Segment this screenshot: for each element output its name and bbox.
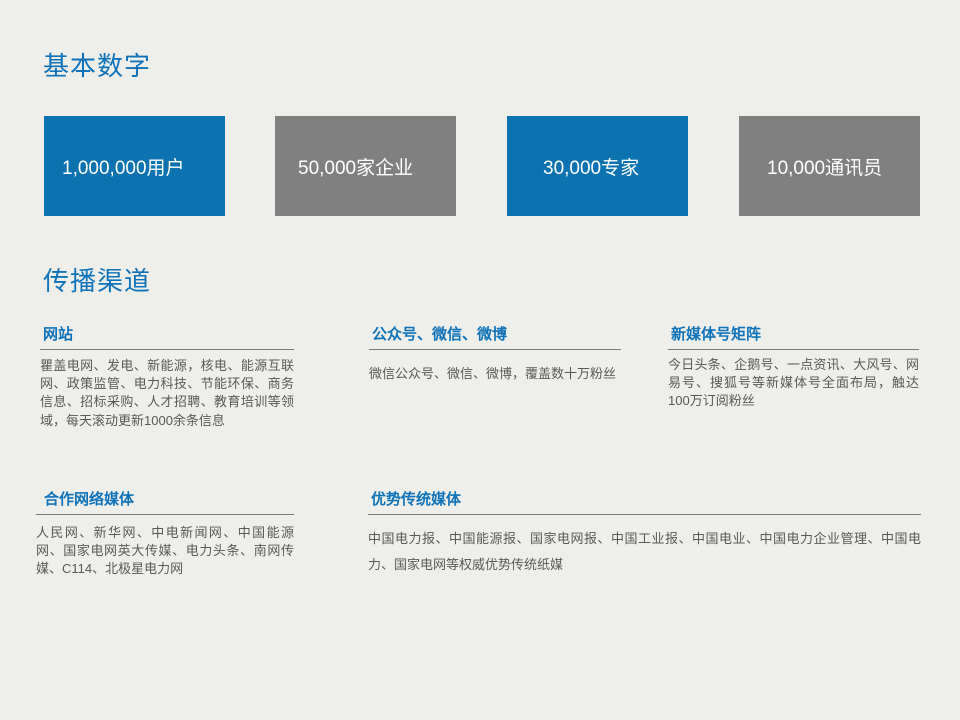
channel-block-website: 网站 瞿盖电网、发电、新能源，核电、能源互联网、政策监管、电力科技、节能环保、商…	[40, 327, 294, 430]
channel-divider	[40, 349, 294, 350]
stat-card-label: 30,000专家	[507, 153, 639, 180]
channel-body-text: 人民网、新华网、中电新闻网、中国能源网、国家电网英大传媒、电力头条、南网传媒、C…	[36, 524, 294, 579]
slide-canvas: 基本数字 1,000,000用户 50,000家企业 30,000专家 10,0…	[0, 0, 960, 720]
channel-divider	[369, 349, 621, 350]
section-title-channels: 传播渠道	[43, 268, 151, 294]
stat-card-correspondents: 10,000通讯员	[739, 116, 920, 216]
stat-card-label: 1,000,000用户	[44, 153, 185, 180]
channel-body-text: 今日头条、企鹅号、一点资讯、大风号、网易号、搜狐号等新媒体号全面布局，触达100…	[668, 356, 919, 411]
channel-divider	[668, 349, 919, 350]
stat-card-label: 10,000通讯员	[739, 153, 882, 180]
channel-block-official-accounts: 公众号、微信、微博 微信公众号、微信、微博，覆盖数十万粉丝	[369, 327, 621, 387]
channel-divider	[368, 514, 921, 515]
channel-heading: 网站	[40, 327, 294, 344]
channel-heading: 新媒体号矩阵	[668, 327, 919, 344]
channel-block-partner-web-media: 合作网络媒体 人民网、新华网、中电新闻网、中国能源网、国家电网英大传媒、电力头条…	[36, 492, 294, 579]
channel-block-new-media-matrix: 新媒体号矩阵 今日头条、企鹅号、一点资讯、大风号、网易号、搜狐号等新媒体号全面布…	[668, 327, 919, 411]
channel-body-text: 微信公众号、微信、微博，覆盖数十万粉丝	[369, 361, 621, 387]
channel-heading: 优势传统媒体	[368, 492, 921, 509]
stat-card-enterprises: 50,000家企业	[275, 116, 456, 216]
stat-card-users: 1,000,000用户	[44, 116, 225, 216]
channel-divider	[36, 514, 294, 515]
stat-card-experts: 30,000专家	[507, 116, 688, 216]
channel-body-text: 瞿盖电网、发电、新能源，核电、能源互联网、政策监管、电力科技、节能环保、商务信息…	[40, 357, 294, 431]
section-title-basic-numbers: 基本数字	[43, 53, 151, 79]
channel-body-text: 中国电力报、中国能源报、国家电网报、中国工业报、中国电业、中国电力企业管理、中国…	[368, 526, 921, 578]
channel-block-traditional-media: 优势传统媒体 中国电力报、中国能源报、国家电网报、中国工业报、中国电业、中国电力…	[368, 492, 921, 578]
channel-heading: 合作网络媒体	[36, 492, 294, 509]
stat-card-label: 50,000家企业	[275, 153, 413, 180]
channel-heading: 公众号、微信、微博	[369, 327, 621, 344]
